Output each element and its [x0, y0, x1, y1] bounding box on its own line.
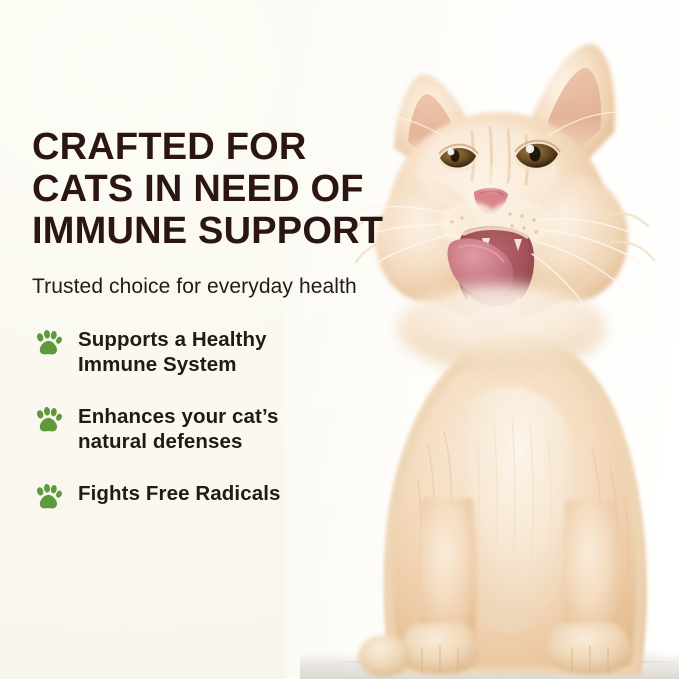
paw-icon [32, 482, 64, 514]
benefit-text: Supports a Healthy Immune System [78, 326, 267, 377]
benefit-line-1: Enhances your cat’s [78, 404, 279, 429]
benefit-line-2: natural defenses [78, 429, 279, 454]
paw-icon [32, 328, 64, 360]
list-item: Fights Free Radicals [32, 480, 384, 514]
text-column: CRAFTED FOR CATS IN NEED OF IMMUNE SUPPO… [32, 126, 384, 514]
benefit-line-1: Fights Free Radicals [78, 481, 281, 506]
list-item: Supports a Healthy Immune System [32, 326, 384, 377]
headline-line-2: CATS IN NEED OF [32, 168, 384, 210]
benefit-line-1: Supports a Healthy [78, 327, 267, 352]
paw-icon [32, 405, 64, 437]
page-title: CRAFTED FOR CATS IN NEED OF IMMUNE SUPPO… [32, 126, 384, 252]
product-banner: CRAFTED FOR CATS IN NEED OF IMMUNE SUPPO… [0, 0, 679, 679]
subtitle: Trusted choice for everyday health [32, 274, 384, 300]
benefits-list: Supports a Healthy Immune System Enhance… [32, 326, 384, 514]
list-item: Enhances your cat’s natural defenses [32, 403, 384, 454]
benefit-text: Fights Free Radicals [78, 480, 281, 506]
headline-line-1: CRAFTED FOR [32, 126, 384, 168]
benefit-text: Enhances your cat’s natural defenses [78, 403, 279, 454]
headline-line-3: IMMUNE SUPPORT [32, 210, 384, 252]
benefit-line-2: Immune System [78, 352, 267, 377]
